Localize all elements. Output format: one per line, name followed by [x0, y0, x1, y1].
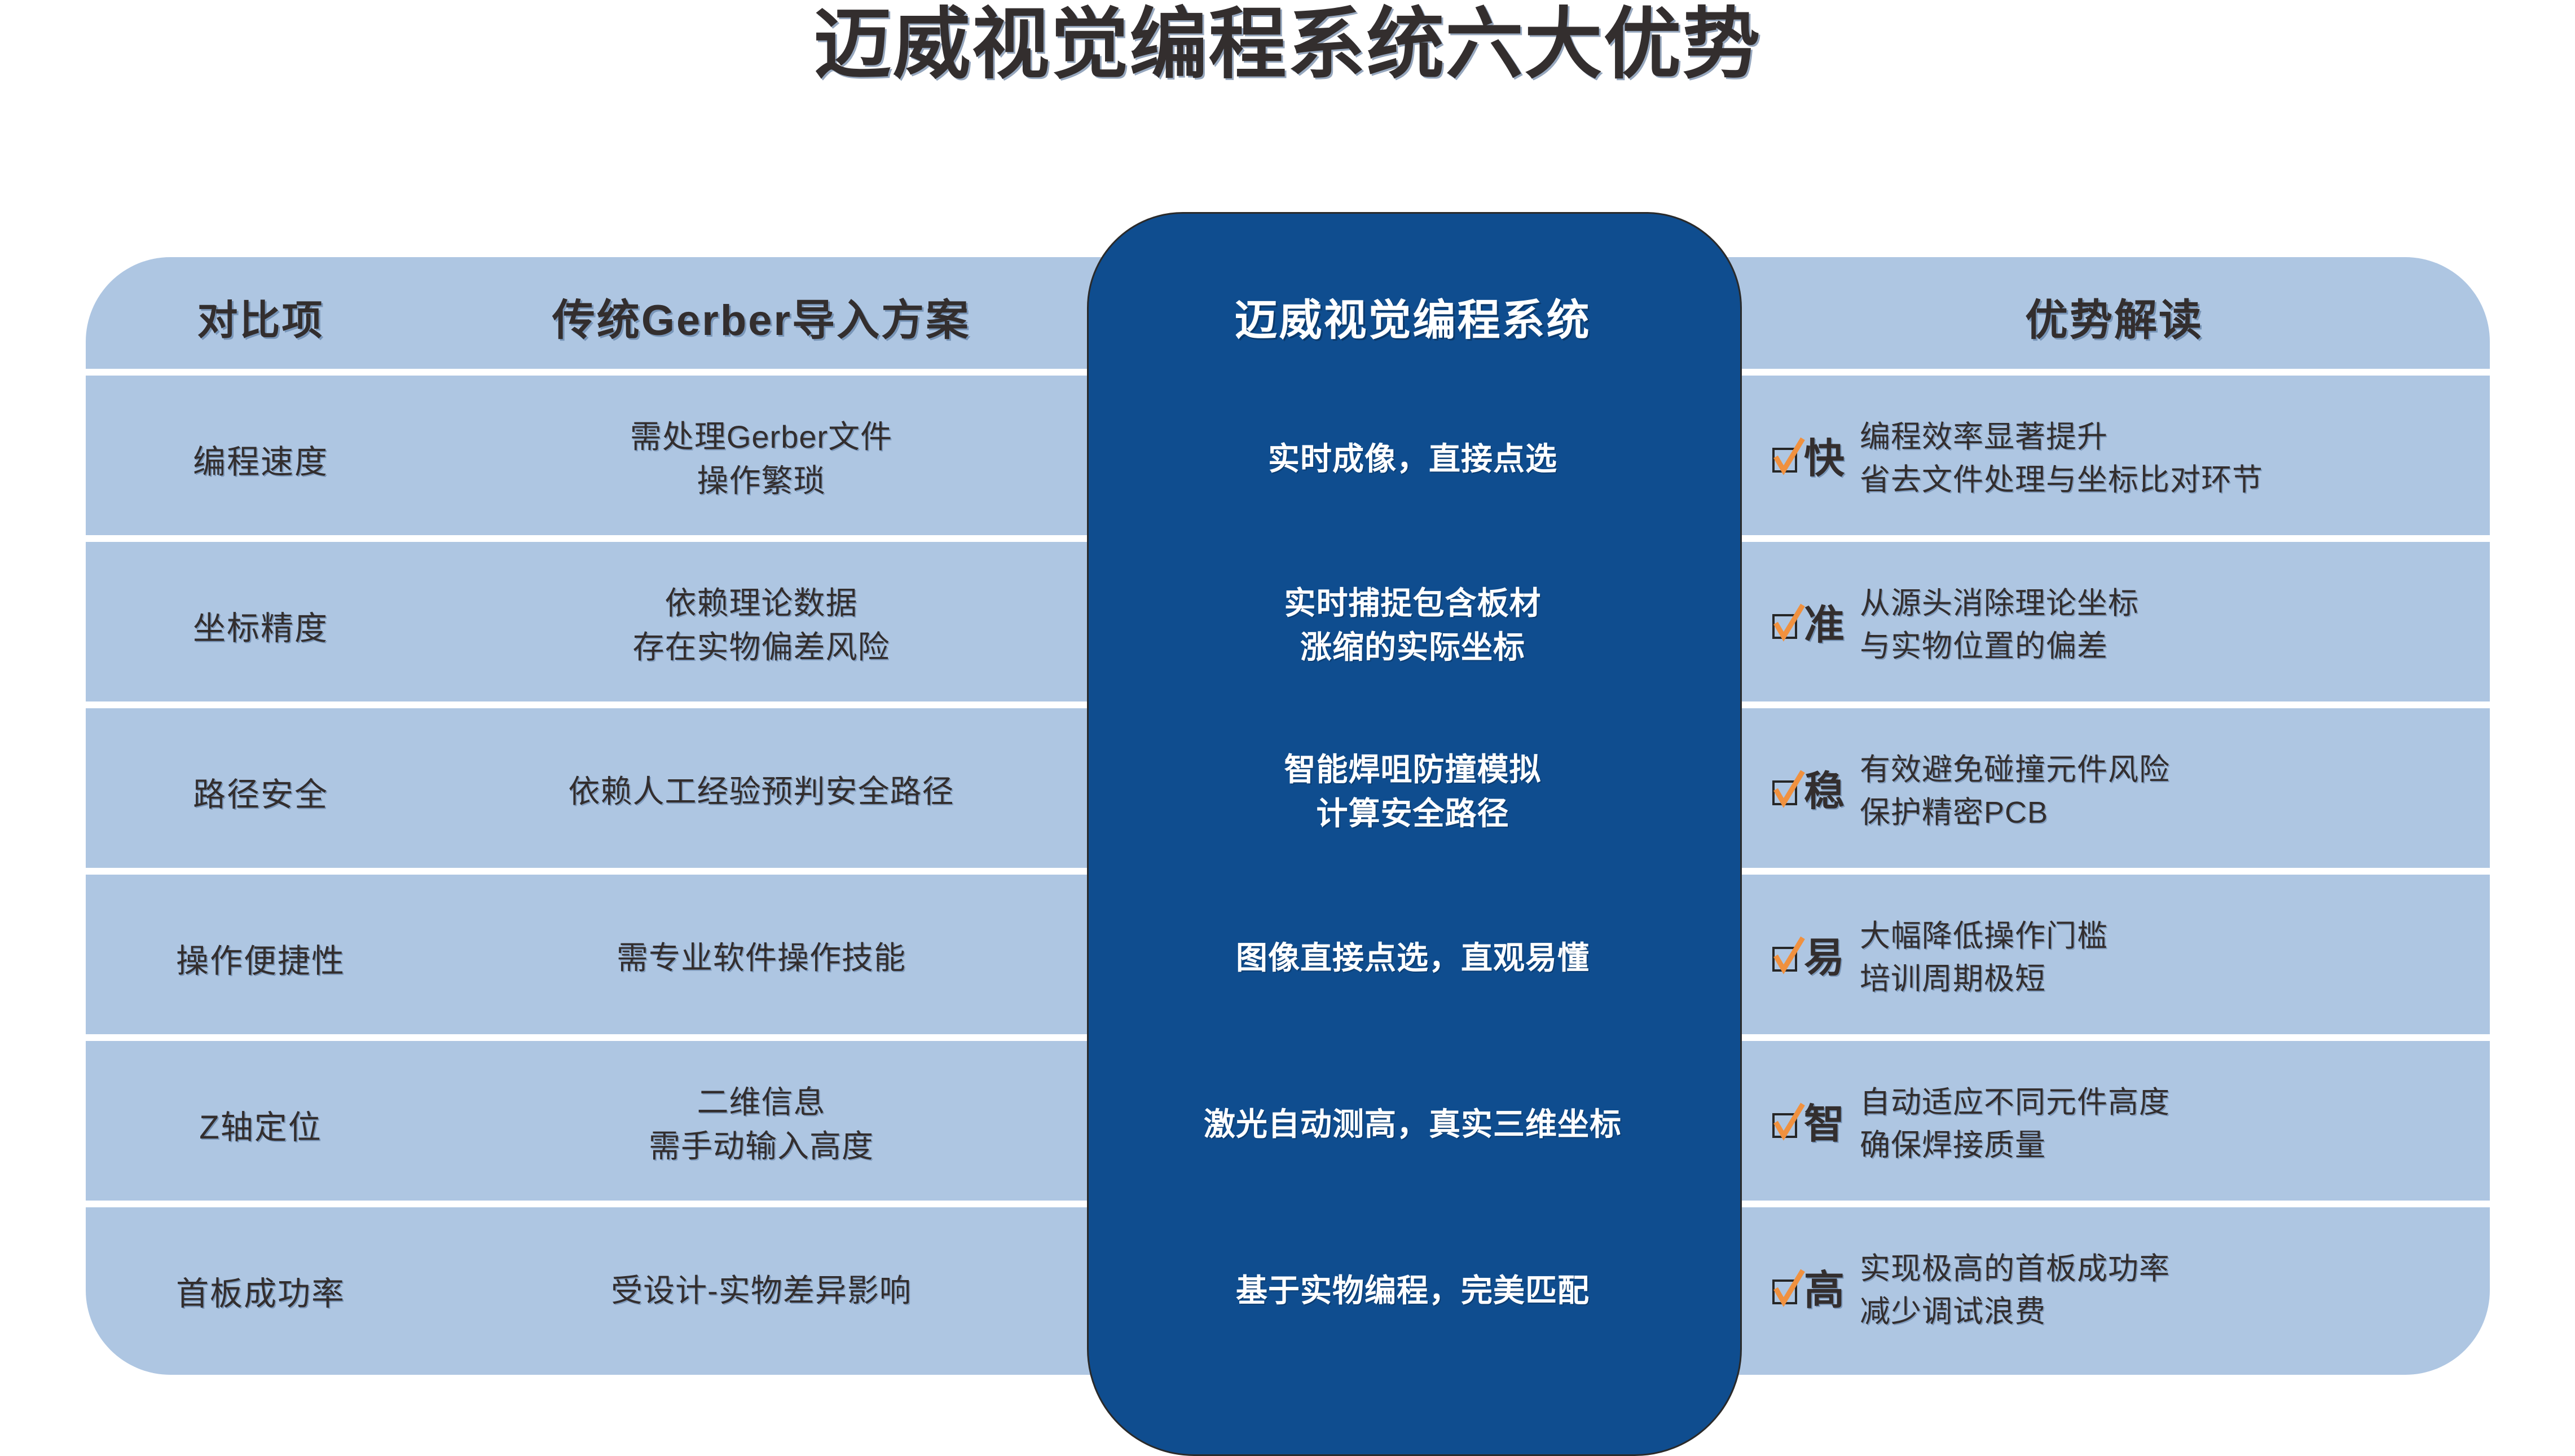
maiwei-line: 实时捕捉包含板材 [1284, 581, 1542, 625]
advantage-keyword: 高 [1804, 1270, 1845, 1311]
advantage-key: 准 [1772, 605, 1845, 646]
cell-maiwei: 激光自动测高，真实三维坐标 [1087, 1041, 1738, 1207]
checkbox-checked-icon [1772, 1110, 1802, 1139]
maiwei-line: 涨缩的实际坐标 [1300, 625, 1525, 669]
traditional-line: 操作繁琐 [697, 459, 825, 502]
traditional-line: 需专业软件操作技能 [617, 936, 906, 980]
cell-traditional: 二维信息需手动输入高度 [435, 1041, 1087, 1207]
maiwei-line: 激光自动测高，真实三维坐标 [1204, 1102, 1622, 1146]
advantage-line: 减少调试浪费 [1860, 1291, 2170, 1334]
advantage-keyword: 稳 [1804, 771, 1845, 812]
cell-item: Z轴定位 [86, 1041, 435, 1207]
traditional-line: 二维信息 [697, 1080, 826, 1124]
table-row: 坐标精度依赖理论数据存在实物偏差风险实时捕捉包含板材涨缩的实际坐标准从源头消除理… [86, 542, 2490, 708]
advantage-description: 从源头消除理论坐标与实物位置的偏差 [1860, 583, 2139, 668]
cell-maiwei: 智能焊咀防撞模拟计算安全路径 [1087, 708, 1738, 875]
cell-maiwei: 实时捕捉包含板材涨缩的实际坐标 [1087, 542, 1738, 708]
checkbox-checked-icon [1772, 1276, 1802, 1305]
advantage-keyword: 智 [1804, 1104, 1845, 1145]
table-row: 首板成功率受设计-实物差异影响基于实物编程，完美匹配高实现极高的首板成功率减少调… [86, 1207, 2490, 1374]
traditional-line: 需手动输入高度 [649, 1124, 874, 1168]
advantage-line: 自动适应不同元件高度 [1860, 1082, 2170, 1124]
cell-maiwei: 实时成像，直接点选 [1087, 376, 1738, 542]
table-row: Z轴定位二维信息需手动输入高度激光自动测高，真实三维坐标智自动适应不同元件高度确… [86, 1041, 2490, 1207]
checkbox-checked-icon [1772, 777, 1802, 806]
table-row: 编程速度需处理Gerber文件操作繁琐实时成像，直接点选快编程效率显著提升省去文… [86, 376, 2490, 542]
page-title: 迈威视觉编程系统六大优势 [0, 6, 2575, 83]
traditional-line: 依赖理论数据 [665, 581, 858, 625]
advantage-key: 易 [1772, 938, 1845, 978]
advantage-description: 实现极高的首板成功率减少调试浪费 [1860, 1248, 2170, 1333]
item-line: 操作便捷性 [176, 934, 345, 982]
cell-traditional: 需专业软件操作技能 [435, 875, 1087, 1041]
checkbox-checked-icon [1772, 943, 1802, 973]
advantage-description: 有效避免碰撞元件风险保护精密PCB [1860, 749, 2170, 834]
cell-advantage: 快编程效率显著提升省去文件处理与坐标比对环节 [1738, 376, 2490, 542]
cell-advantage: 智自动适应不同元件高度确保焊接质量 [1738, 1041, 2490, 1207]
cell-item: 坐标精度 [86, 542, 435, 708]
maiwei-line: 实时成像，直接点选 [1268, 437, 1557, 480]
advantage-description: 编程效率显著提升省去文件处理与坐标比对环节 [1860, 416, 2263, 501]
cell-maiwei: 图像直接点选，直观易懂 [1087, 875, 1738, 1041]
advantage-line: 与实物位置的偏差 [1860, 625, 2139, 668]
maiwei-line: 基于实物编程，完美匹配 [1236, 1269, 1590, 1312]
advantage-key: 快 [1772, 439, 1845, 479]
comparison-table: 对比项 传统Gerber导入方案 迈威视觉编程系统 优势解读 编程速度需处理Ge… [86, 257, 2490, 1375]
advantage-key: 稳 [1772, 771, 1845, 812]
traditional-line: 存在实物偏差风险 [633, 625, 890, 669]
item-line: 坐标精度 [193, 602, 328, 649]
checkbox-checked-icon [1772, 611, 1802, 640]
header-cell-advantage: 优势解读 [1738, 257, 2490, 376]
cell-item: 首板成功率 [86, 1207, 435, 1374]
cell-maiwei: 基于实物编程，完美匹配 [1087, 1207, 1738, 1374]
advantage-description: 自动适应不同元件高度确保焊接质量 [1860, 1082, 2170, 1167]
item-line: 路径安全 [193, 768, 328, 815]
advantage-keyword: 准 [1804, 605, 1845, 646]
header-cell-maiwei: 迈威视觉编程系统 [1087, 257, 1738, 376]
advantage-line: 从源头消除理论坐标 [1860, 583, 2139, 625]
cell-advantage: 易大幅降低操作门槛培训周期极短 [1738, 875, 2490, 1041]
advantage-line: 编程效率显著提升 [1860, 416, 2263, 459]
cell-item: 路径安全 [86, 708, 435, 875]
item-line: 首板成功率 [176, 1267, 345, 1314]
advantage-keyword: 快 [1804, 439, 1845, 479]
advantage-keyword: 易 [1804, 938, 1845, 978]
maiwei-line: 智能焊咀防撞模拟 [1284, 748, 1542, 791]
advantage-line: 省去文件处理与坐标比对环节 [1860, 459, 2263, 502]
cell-advantage: 高实现极高的首板成功率减少调试浪费 [1738, 1207, 2490, 1374]
advantage-line: 实现极高的首板成功率 [1860, 1248, 2170, 1291]
advantage-line: 保护精密PCB [1860, 792, 2170, 835]
cell-item: 操作便捷性 [86, 875, 435, 1041]
item-line: Z轴定位 [199, 1101, 322, 1148]
advantage-key: 智 [1772, 1104, 1845, 1145]
advantage-key: 高 [1772, 1270, 1845, 1311]
cell-traditional: 依赖人工经验预判安全路径 [435, 708, 1087, 875]
header-cell-traditional: 传统Gerber导入方案 [435, 257, 1087, 376]
traditional-line: 需处理Gerber文件 [630, 415, 892, 458]
advantage-line: 大幅降低操作门槛 [1860, 915, 2108, 958]
advantage-line: 有效避免碰撞元件风险 [1860, 749, 2170, 792]
table-row: 操作便捷性需专业软件操作技能图像直接点选，直观易懂易大幅降低操作门槛培训周期极短 [86, 875, 2490, 1041]
checkbox-checked-icon [1772, 444, 1802, 474]
advantage-line: 确保焊接质量 [1860, 1124, 2170, 1167]
traditional-line: 受设计-实物差异影响 [611, 1269, 912, 1312]
advantage-description: 大幅降低操作门槛培训周期极短 [1860, 915, 2108, 1000]
cell-advantage: 准从源头消除理论坐标与实物位置的偏差 [1738, 542, 2490, 708]
cell-advantage: 稳有效避免碰撞元件风险保护精密PCB [1738, 708, 2490, 875]
cell-traditional: 需处理Gerber文件操作繁琐 [435, 376, 1087, 542]
maiwei-line: 图像直接点选，直观易懂 [1236, 936, 1590, 980]
advantage-line: 培训周期极短 [1860, 958, 2108, 1001]
cell-traditional: 依赖理论数据存在实物偏差风险 [435, 542, 1087, 708]
table-row: 路径安全依赖人工经验预判安全路径智能焊咀防撞模拟计算安全路径稳有效避免碰撞元件风… [86, 708, 2490, 875]
table-header-row: 对比项 传统Gerber导入方案 迈威视觉编程系统 优势解读 [86, 257, 2490, 376]
item-line: 编程速度 [193, 435, 328, 483]
maiwei-line: 计算安全路径 [1317, 792, 1509, 835]
cell-item: 编程速度 [86, 376, 435, 542]
traditional-line: 依赖人工经验预判安全路径 [569, 770, 954, 813]
cell-traditional: 受设计-实物差异影响 [435, 1207, 1087, 1374]
header-cell-item: 对比项 [86, 257, 435, 376]
